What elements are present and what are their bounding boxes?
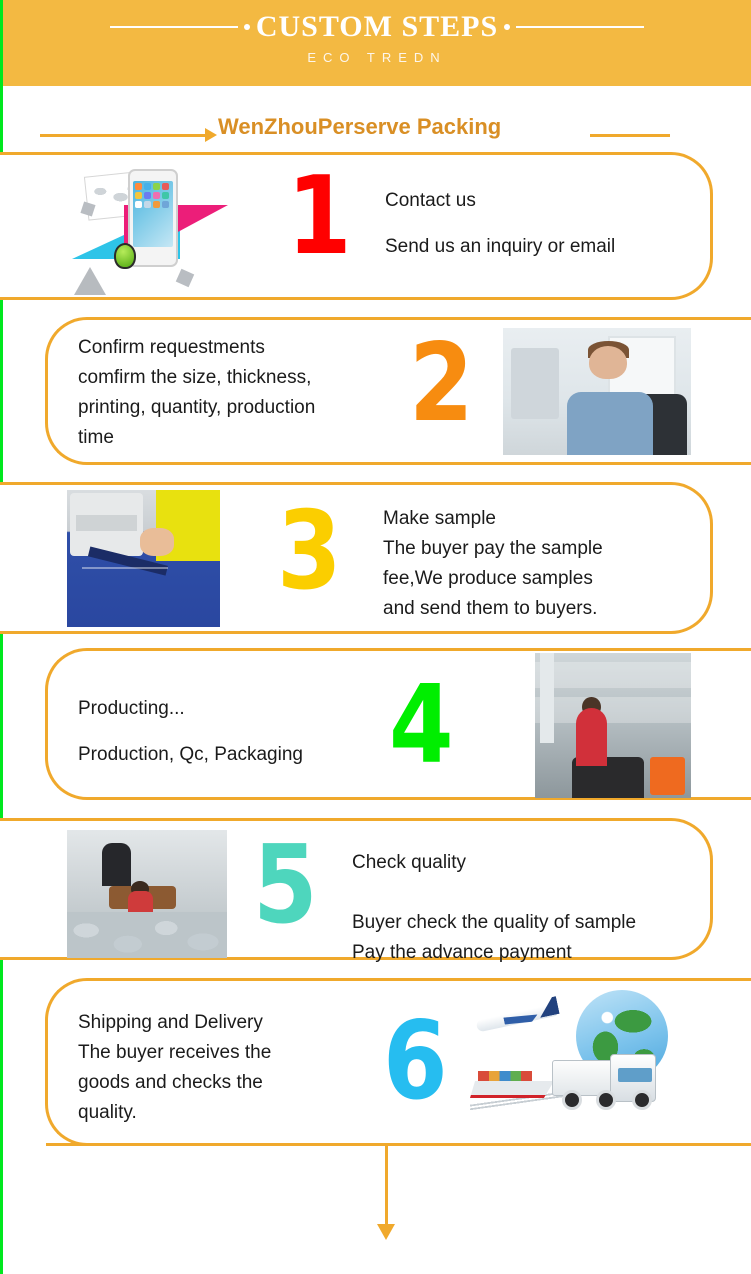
header-title-row: CUSTOM STEPS: [3, 11, 751, 43]
step-5-line-2: Buyer check the quality of sample: [352, 912, 636, 933]
step-text-1: Contact usSend us an inquiry or email: [385, 178, 685, 270]
factory-floor-photo: [535, 653, 691, 798]
header-dot-left-icon: [244, 24, 250, 30]
step-6-line-2: The buyer receives the: [78, 1042, 271, 1063]
bag-sewing-photo: [67, 490, 220, 627]
step-text-6: Shipping and DeliveryThe buyer receives …: [78, 1008, 378, 1128]
flow-tail-horizontal: [46, 1143, 388, 1146]
page-title: CUSTOM STEPS: [256, 11, 498, 43]
step-text-4: Producting...Production, Qc, Packaging: [78, 686, 398, 778]
step-3-line-1: Make sample: [383, 508, 496, 529]
step-3-line-4: and send them to buyers.: [383, 598, 597, 619]
step-number-5: 5: [253, 832, 314, 940]
step-2-line-3: printing, quantity, production: [78, 397, 315, 418]
step-3-line-3: fee,We produce samples: [383, 568, 593, 589]
step-text-3: Make sampleThe buyer pay the samplefee,W…: [383, 504, 703, 624]
brand-line-right: [590, 134, 670, 137]
quality-workshop-photo: [67, 830, 227, 958]
flow-tail-vertical: [385, 1143, 388, 1228]
step-6-line-4: quality.: [78, 1102, 137, 1123]
step-1-line-2: Send us an inquiry or email: [385, 236, 615, 257]
logistics-globe-photo: [470, 986, 670, 1112]
step-2-line-1: Confirm requestments: [78, 337, 265, 358]
custom-steps-infographic: CUSTOM STEPS ECO TREDN WenZhouPerserve P…: [0, 0, 751, 1274]
office-worker-photo: [503, 328, 691, 455]
header-rule-right: [516, 26, 644, 28]
step-4-line-1: Producting...: [78, 698, 185, 719]
header-banner: CUSTOM STEPS ECO TREDN: [3, 0, 751, 86]
header-dot-right-icon: [504, 24, 510, 30]
arrow-right-icon: [205, 128, 217, 142]
phone-devices-photo: [68, 163, 248, 295]
step-6-line-3: goods and checks the: [78, 1072, 263, 1093]
step-2-line-4: time: [78, 427, 114, 448]
step-number-3: 3: [277, 498, 338, 606]
step-1-line-1: Contact us: [385, 190, 476, 211]
airplane-icon: [476, 998, 562, 1038]
step-text-2: Confirm requestmentscomfirm the size, th…: [78, 333, 408, 453]
step-text-5: Check qualityBuyer check the quality of …: [352, 848, 710, 968]
step-2-line-2: comfirm the size, thickness,: [78, 367, 311, 388]
header-subtitle: ECO TREDN: [3, 50, 751, 65]
step-number-4: 4: [389, 672, 450, 780]
brand-label: WenZhouPerserve Packing: [218, 114, 501, 140]
step-6-line-1: Shipping and Delivery: [78, 1012, 263, 1033]
step-number-2: 2: [409, 330, 470, 438]
step-number-6: 6: [383, 1008, 444, 1116]
step-4-line-2: Production, Qc, Packaging: [78, 744, 303, 765]
brand-line-left: [40, 134, 208, 137]
arrow-down-icon: [377, 1224, 395, 1240]
step-5-line-1: Check quality: [352, 852, 466, 873]
step-number-1: 1: [287, 163, 348, 271]
step-5-line-3: Pay the advance payment: [352, 942, 572, 963]
container-ship-icon: [470, 1064, 554, 1098]
truck-icon: [552, 1048, 656, 1110]
header-rule-left: [110, 26, 238, 28]
step-3-line-2: The buyer pay the sample: [383, 538, 603, 559]
